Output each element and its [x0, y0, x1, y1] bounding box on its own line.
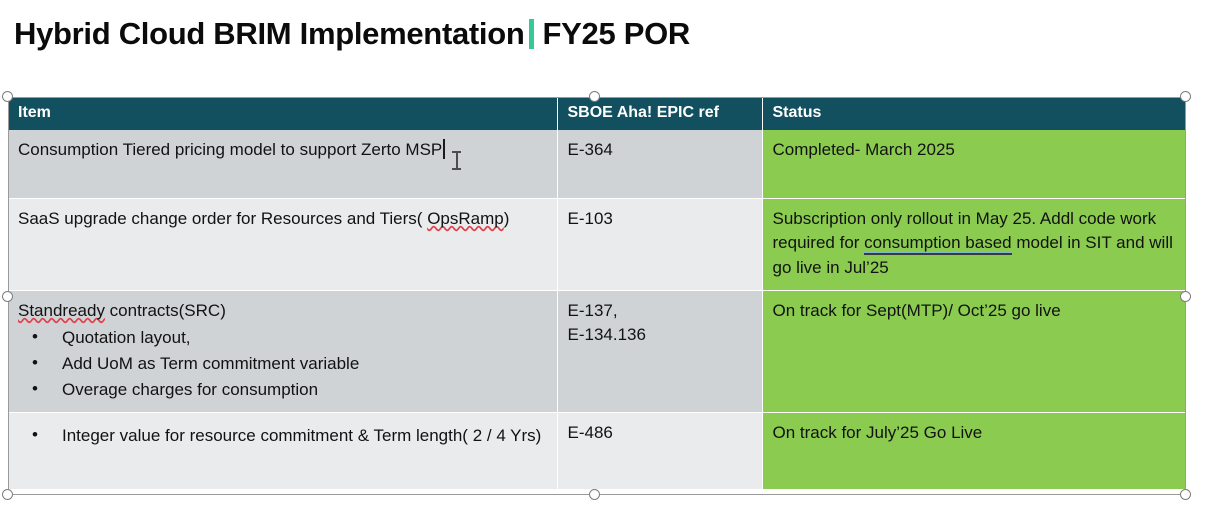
cell-status[interactable]: Completed- March 2025: [762, 130, 1186, 198]
resize-handle-bottom-right[interactable]: [1180, 489, 1191, 500]
item-bullet-list: Quotation layout, Add UoM as Term commit…: [18, 326, 547, 402]
status-text: On track for July’25 Go Live: [773, 423, 983, 442]
table-header: Item SBOE Aha! EPIC ref Status: [8, 97, 1186, 130]
list-item: Quotation layout,: [18, 326, 547, 351]
status-table[interactable]: Item SBOE Aha! EPIC ref Status Consumpti…: [8, 97, 1186, 489]
text-caret: [443, 139, 445, 159]
cell-item[interactable]: SaaS upgrade change order for Resources …: [8, 198, 557, 290]
resize-handle-top-right[interactable]: [1180, 91, 1191, 102]
item-bullet-list: Integer value for resource commitment & …: [18, 424, 547, 449]
cell-item[interactable]: Integer value for resource commitment & …: [8, 412, 557, 489]
epic-ref-line: E-364: [568, 138, 752, 163]
epic-ref-line: E-134.136: [568, 323, 752, 348]
item-text: Consumption Tiered pricing model to supp…: [18, 138, 547, 163]
table-row[interactable]: Consumption Tiered pricing model to supp…: [8, 130, 1186, 198]
list-item: Integer value for resource commitment & …: [18, 424, 547, 449]
table-header-row: Item SBOE Aha! EPIC ref Status: [8, 97, 1186, 130]
grammar-underlined-phrase: consumption based: [864, 233, 1011, 255]
cell-status[interactable]: On track for July’25 Go Live: [762, 412, 1186, 489]
epic-ref-line: E-103: [568, 207, 752, 232]
list-item: Overage charges for consumption: [18, 378, 547, 403]
table-row[interactable]: Standready contracts(SRC) Quotation layo…: [8, 290, 1186, 412]
spellcheck-misspelled-word: Standready: [18, 301, 105, 320]
status-table-container[interactable]: Item SBOE Aha! EPIC ref Status Consumpti…: [8, 97, 1186, 495]
status-text: On track for Sept(MTP)/ Oct’25 go live: [773, 301, 1061, 320]
cell-epic[interactable]: E-103: [557, 198, 762, 290]
column-header-epic[interactable]: SBOE Aha! EPIC ref: [557, 97, 762, 130]
resize-handle-bottom-center[interactable]: [589, 489, 600, 500]
cell-item[interactable]: Consumption Tiered pricing model to supp…: [8, 130, 557, 198]
cell-epic[interactable]: E-486: [557, 412, 762, 489]
page-title-main: Hybrid Cloud BRIM Implementation: [14, 16, 525, 52]
cell-status[interactable]: Subscription only rollout in May 25. Add…: [762, 198, 1186, 290]
table-body: Consumption Tiered pricing model to supp…: [8, 130, 1186, 489]
column-header-status[interactable]: Status: [762, 97, 1186, 130]
column-header-item[interactable]: Item: [8, 97, 557, 130]
epic-ref-line: E-486: [568, 421, 752, 446]
list-item: Add UoM as Term commitment variable: [18, 352, 547, 377]
epic-ref-line: E-137,: [568, 299, 752, 324]
item-text: SaaS upgrade change order for Resources …: [18, 207, 547, 232]
resize-handle-top-left[interactable]: [2, 91, 13, 102]
cell-item[interactable]: Standready contracts(SRC) Quotation layo…: [8, 290, 557, 412]
spellcheck-misspelled-word: OpsRamp: [427, 209, 504, 228]
item-text: Standready contracts(SRC): [18, 299, 547, 324]
title-separator-bar: [529, 19, 534, 49]
cell-epic[interactable]: E-137, E-134.136: [557, 290, 762, 412]
cell-status[interactable]: On track for Sept(MTP)/ Oct’25 go live: [762, 290, 1186, 412]
resize-handle-middle-right[interactable]: [1180, 291, 1191, 302]
table-row[interactable]: SaaS upgrade change order for Resources …: [8, 198, 1186, 290]
table-row[interactable]: Integer value for resource commitment & …: [8, 412, 1186, 489]
page-title-sub: FY25 POR: [543, 16, 690, 52]
resize-handle-top-center[interactable]: [589, 91, 600, 102]
page-title: Hybrid Cloud BRIM Implementation FY25 PO…: [14, 16, 690, 52]
resize-handle-middle-left[interactable]: [2, 291, 13, 302]
resize-handle-bottom-left[interactable]: [2, 489, 13, 500]
cell-epic[interactable]: E-364: [557, 130, 762, 198]
status-text: Completed- March 2025: [773, 140, 955, 159]
